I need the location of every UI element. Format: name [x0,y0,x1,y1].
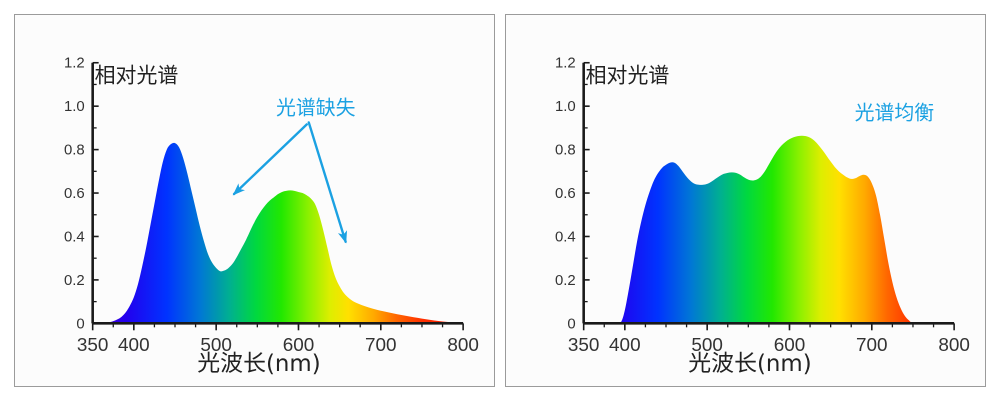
panel-title-left: 相对光谱 [95,64,179,88]
y-tick-label: 0.4 [64,228,85,245]
y-tick-label: 0.2 [555,272,576,289]
balanced-spectrum-chart: 00.20.40.60.81.01.2350400500600700800 相对… [506,15,985,386]
left-plot-body: 00.20.40.60.81.01.2350400500600700800 [64,55,479,356]
deficient-spectrum-panel: 00.20.40.60.81.01.2350400500600700800 相对… [14,14,495,387]
deficient-spectrum-chart: 00.20.40.60.81.01.2350400500600700800 相对… [15,15,494,386]
x-tick-label: 350 [568,335,600,356]
x-tick-label: 700 [856,335,888,356]
x-axis-title-right: 光波长(nm) [688,351,811,377]
x-tick-label: 400 [609,335,641,356]
panel-title-right: 相对光谱 [586,64,670,88]
y-tick-label: 0.8 [555,142,576,159]
x-tick-label: 800 [938,335,970,356]
right-plot-body: 00.20.40.60.81.01.2350400500600700800 [555,55,970,356]
x-tick-label: 350 [77,335,109,356]
x-tick-label: 400 [118,335,150,356]
annotation-label-balanced: 光谱均衡 [855,101,935,124]
annotation-label-left: 光谱缺失 [276,96,356,119]
y-tick-label: 1.2 [64,55,85,72]
spectrum-area [584,136,954,324]
y-tick-label: 0.2 [64,272,85,289]
spectrum-comparison-figure: 00.20.40.60.81.01.2350400500600700800 相对… [0,0,1000,401]
y-tick-label: 0.6 [555,185,576,202]
y-tick-label: 0.6 [64,185,85,202]
annotation-arrow-left [234,124,307,194]
y-tick-label: 1.0 [64,98,85,115]
balanced-spectrum-panel: 00.20.40.60.81.01.2350400500600700800 相对… [505,14,986,387]
y-tick-label: 1.2 [555,55,576,72]
y-tick-label: 1.0 [555,98,576,115]
y-tick-label: 0 [76,315,84,332]
x-tick-label: 800 [447,335,479,356]
y-tick-label: 0 [567,315,575,332]
y-tick-label: 0.4 [555,228,576,245]
spectrum-area [93,143,463,324]
y-tick-label: 0.8 [64,142,85,159]
x-axis-title-left: 光波长(nm) [197,351,320,377]
x-tick-label: 700 [365,335,397,356]
